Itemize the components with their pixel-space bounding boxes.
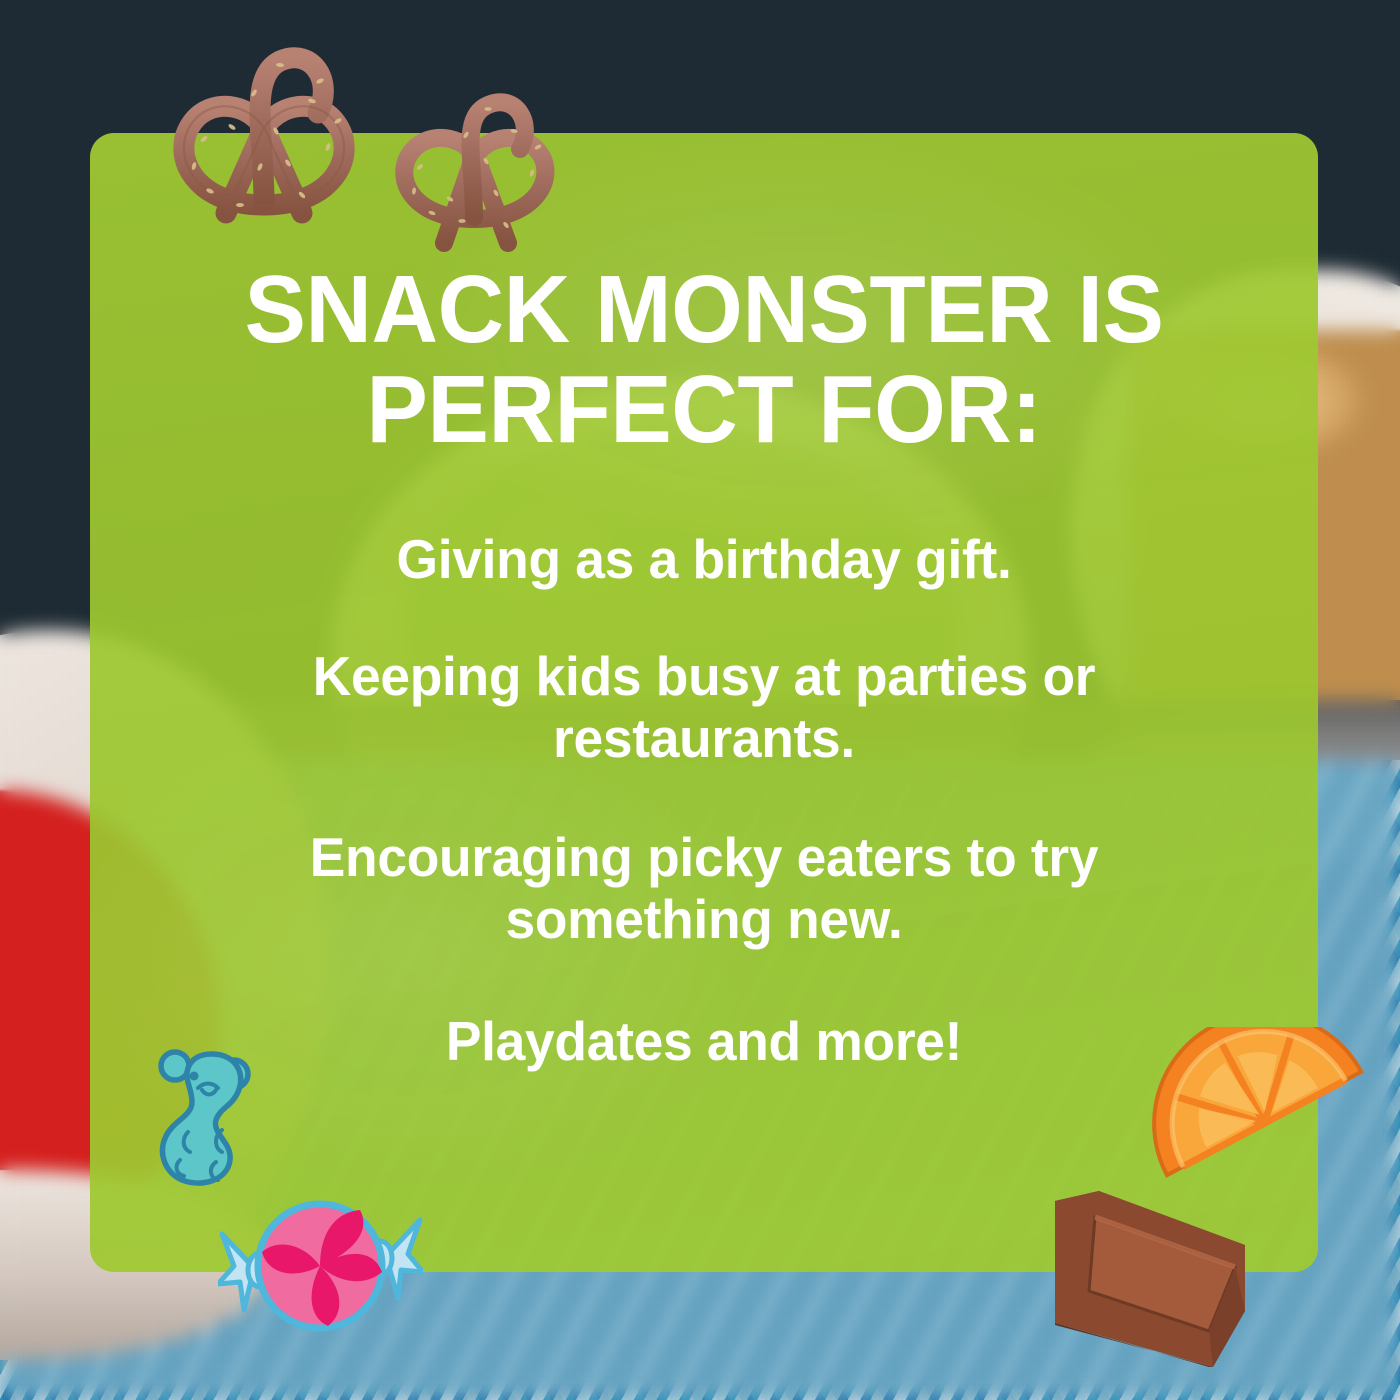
- benefit-item-3: Encouraging picky eaters to try somethin…: [165, 827, 1244, 950]
- card-text-block: SNACK MONSTER IS PERFECT FOR: Giving as …: [90, 133, 1318, 1072]
- pretzel-icon: [152, 35, 382, 250]
- benefit-item-2: Keeping kids busy at parties or restaura…: [165, 646, 1244, 769]
- pretzel-icon: [370, 83, 580, 258]
- gummy-bear-icon: [150, 1040, 270, 1190]
- benefit-item-4: Playdates and more!: [165, 1011, 1244, 1073]
- content-card: SNACK MONSTER IS PERFECT FOR: Giving as …: [90, 133, 1318, 1272]
- poster-canvas: SNACK MONSTER IS PERFECT FOR: Giving as …: [0, 0, 1400, 1400]
- benefits-list: Giving as a birthday gift. Keeping kids …: [148, 529, 1260, 1073]
- benefit-item-1: Giving as a birthday gift.: [165, 529, 1244, 591]
- swirl-candy-icon: [218, 1188, 423, 1348]
- chocolate-bar-icon: [1037, 1183, 1287, 1373]
